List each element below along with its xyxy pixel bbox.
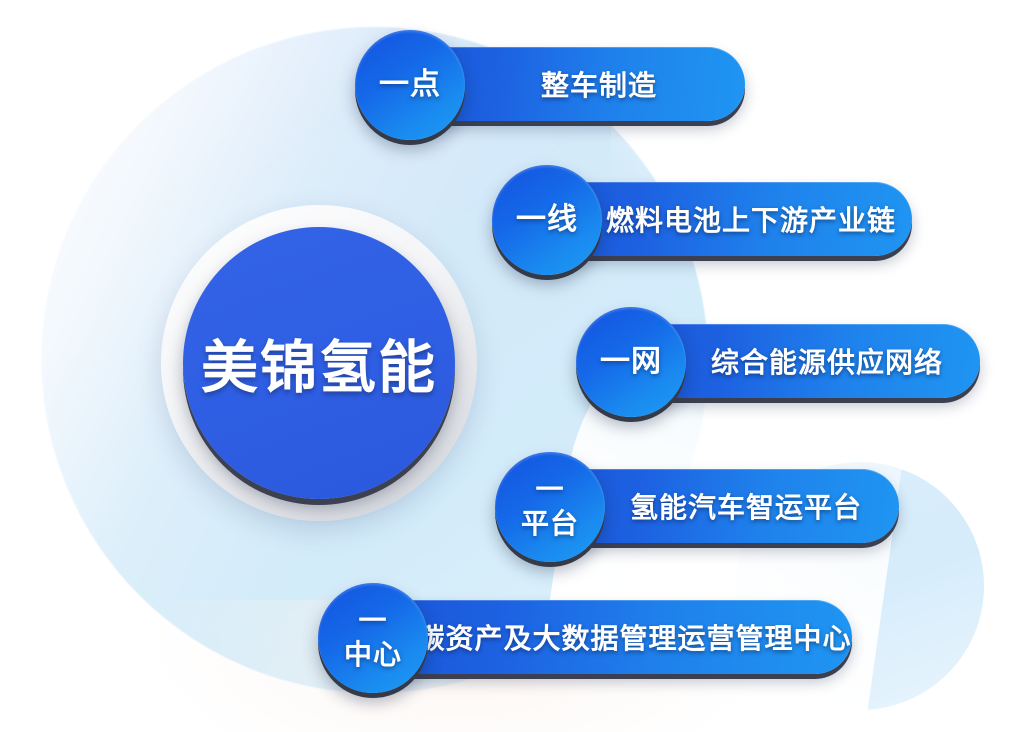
branch-badge-line-4-1: 一: [535, 473, 564, 507]
branch-row-2: 燃料电池上下游产业链 一线: [492, 165, 917, 275]
branch-label-4: 氢能汽车智运平台: [630, 486, 862, 526]
branch-row-4: 氢能汽车智运平台 一 平台: [495, 452, 905, 562]
branch-badge-line-5-2: 中心: [344, 638, 402, 672]
branch-badge-line-4-2: 平台: [521, 507, 579, 541]
branch-badge-5[interactable]: 一 中心: [318, 583, 428, 693]
branch-label-2: 燃料电池上下游产业链: [606, 199, 896, 239]
branch-badge-2[interactable]: 一线: [492, 165, 602, 275]
branch-badge-line-2-1: 一线: [516, 204, 578, 236]
branch-badge-1[interactable]: 一点: [355, 30, 465, 140]
hub-core: 美锦氢能: [183, 227, 455, 499]
branch-label-5: 碳资产及大数据管理运营管理中心: [417, 617, 852, 657]
branch-row-5: 碳资产及大数据管理运营管理中心 一 中心: [318, 583, 858, 693]
branch-label-3: 综合能源供应网络: [711, 341, 943, 381]
branch-badge-line-5-1: 一: [358, 604, 387, 638]
branch-row-1: 整车制造 一点: [355, 30, 745, 140]
hub-label: 美锦氢能: [201, 322, 437, 404]
branch-label-1: 整车制造: [541, 64, 657, 104]
branch-badge-line-3-1: 一网: [600, 346, 662, 378]
branch-badge-line-1-1: 一点: [379, 69, 441, 101]
branch-row-3: 综合能源供应网络 一网: [576, 307, 986, 417]
branch-pill-5[interactable]: 碳资产及大数据管理运营管理中心: [370, 600, 852, 674]
hub-node[interactable]: 美锦氢能: [161, 205, 477, 521]
diagram-canvas: 美锦氢能 整车制造 一点 燃料电池上下游产业链 一线 综合能源供应网络 一网 氢…: [0, 0, 1031, 732]
branch-badge-3[interactable]: 一网: [576, 307, 686, 417]
branch-badge-4[interactable]: 一 平台: [495, 452, 605, 562]
